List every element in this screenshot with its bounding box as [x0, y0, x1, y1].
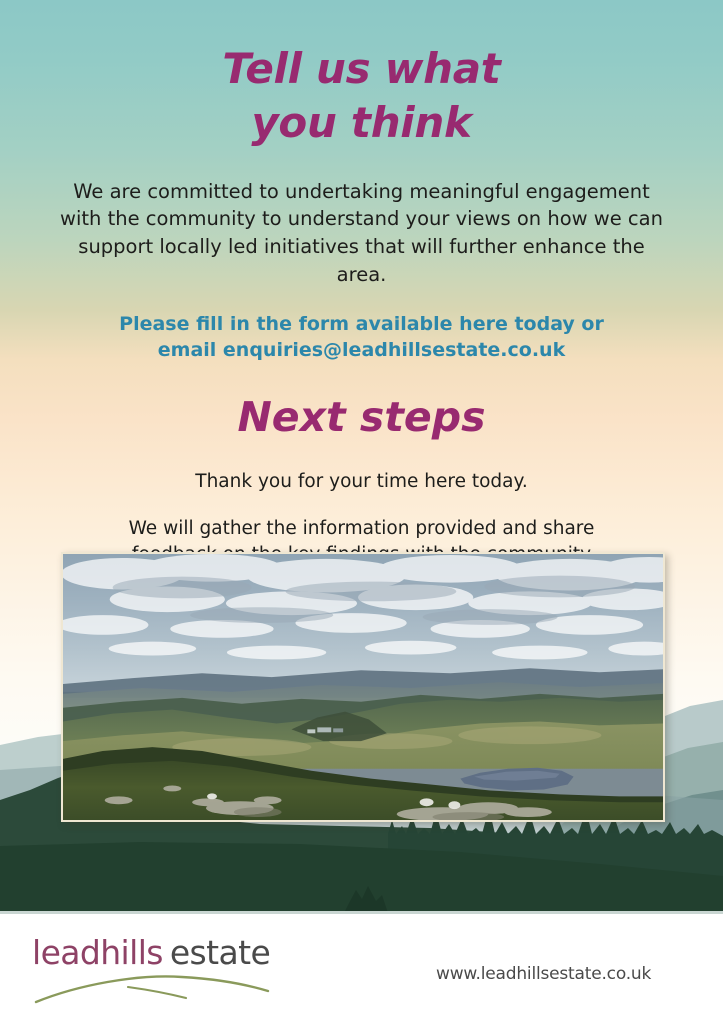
intro-line-3: support locally led initiatives that wil… — [55, 233, 669, 289]
poster-content: Tell us what you think We are committed … — [0, 0, 723, 596]
thanks-text: Thank you for your time here today. — [0, 471, 723, 492]
website-url[interactable]: www.leadhillsestate.co.uk — [436, 964, 651, 984]
intro-paragraph: We are committed to undertaking meaningf… — [55, 178, 669, 290]
logo-word-leadhills: leadhills — [32, 933, 163, 972]
intro-line-2: with the community to understand your vi… — [55, 205, 669, 233]
logo-swoosh-icon — [32, 971, 302, 1005]
callout-line-1: Please fill in the form available here t… — [52, 311, 672, 337]
headline-line-2: you think — [0, 96, 723, 150]
intro-line-1: We are committed to undertaking meaningf… — [55, 178, 669, 206]
headline-line-1: Tell us what — [222, 44, 500, 93]
page-title: Tell us what you think — [0, 42, 723, 150]
callout-paragraph: Please fill in the form available here t… — [52, 311, 672, 363]
callout-email-line[interactable]: email enquiries@leadhillsestate.co.uk — [52, 337, 672, 363]
poster-page: Tell us what you think We are committed … — [0, 0, 723, 1024]
brand-logo[interactable]: leadhillsestate — [32, 936, 302, 1005]
logo-word-estate: estate — [170, 933, 270, 972]
footer: leadhillsestate www.leadhillsestate.co.u… — [0, 914, 723, 1024]
logo-wordmark: leadhillsestate — [32, 936, 302, 969]
section-heading-next-steps: Next steps — [0, 395, 723, 440]
landscape-photo — [61, 552, 665, 822]
outro-line-1: We will gather the information provided … — [82, 516, 642, 543]
